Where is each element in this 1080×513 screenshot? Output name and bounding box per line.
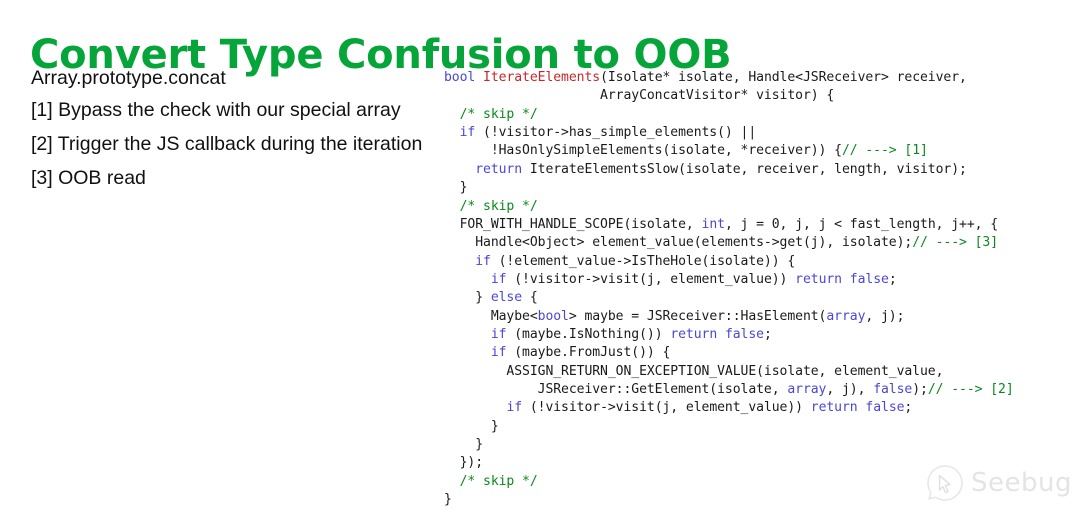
left-content-column: Array.prototype.concat [1] Bypass the ch… <box>31 63 436 195</box>
code-token: (maybe.IsNothing()) <box>506 327 670 342</box>
code-token: (maybe.FromJust()) { <box>506 345 670 360</box>
code-token <box>444 162 475 177</box>
code-line: return IterateElementsSlow(isolate, rece… <box>444 162 967 177</box>
code-line: FOR_WITH_HANDLE_SCOPE(isolate, int, j = … <box>444 217 998 232</box>
code-token: /* skip */ <box>460 474 538 489</box>
code-token: } <box>444 290 491 305</box>
code-token: return <box>670 327 717 342</box>
section-heading: Array.prototype.concat <box>31 63 436 93</box>
code-line: } <box>444 437 483 452</box>
code-token: false <box>725 327 764 342</box>
list-item: [1] Bypass the check with our special ar… <box>31 93 436 127</box>
code-token: ; <box>904 400 912 415</box>
code-line: } else { <box>444 290 538 305</box>
steps-list: [1] Bypass the check with our special ar… <box>31 93 436 195</box>
list-item: [3] OOB read <box>31 161 436 195</box>
code-token: false <box>865 400 904 415</box>
code-line: if (!visitor->visit(j, element_value)) r… <box>444 272 897 287</box>
code-line: ASSIGN_RETURN_ON_EXCEPTION_VALUE(isolate… <box>444 364 943 379</box>
code-token: ASSIGN_RETURN_ON_EXCEPTION_VALUE(isolate… <box>444 364 943 379</box>
code-token: return <box>811 400 858 415</box>
code-token: , j); <box>865 309 904 324</box>
code-token: (!visitor->visit(j, element_value)) <box>522 400 811 415</box>
code-token: bool <box>444 70 475 85</box>
code-token: , j = 0, j, j < fast_length, j++, { <box>725 217 998 232</box>
code-token: /* skip */ <box>460 199 538 214</box>
code-token: /* skip */ <box>460 107 538 122</box>
slide-canvas: Convert Type Confusion to OOB Array.prot… <box>0 0 1080 513</box>
code-line: /* skip */ <box>444 474 538 489</box>
code-token: array <box>787 382 826 397</box>
code-token: IterateElements <box>483 70 600 85</box>
code-line: if (maybe.FromJust()) { <box>444 345 670 360</box>
code-token <box>444 254 475 269</box>
code-line: bool IterateElements(Isolate* isolate, H… <box>444 70 967 85</box>
code-token <box>444 400 506 415</box>
code-token: false <box>850 272 889 287</box>
code-line: if (maybe.IsNothing()) return false; <box>444 327 772 342</box>
code-token: !HasOnlySimpleElements(isolate, *receive… <box>444 143 842 158</box>
code-token: ; <box>889 272 897 287</box>
code-token <box>717 327 725 342</box>
code-block: bool IterateElements(Isolate* isolate, H… <box>444 69 1080 509</box>
code-line: /* skip */ <box>444 199 538 214</box>
code-token: (Isolate* isolate, Handle<JSReceiver> re… <box>600 70 967 85</box>
code-token <box>444 199 460 214</box>
code-token: IterateElementsSlow(isolate, receiver, l… <box>522 162 967 177</box>
code-token: { <box>522 290 538 305</box>
code-token: // ---> [2] <box>928 382 1014 397</box>
code-line: !HasOnlySimpleElements(isolate, *receive… <box>444 143 928 158</box>
code-token: return <box>795 272 842 287</box>
code-token: if <box>491 327 507 342</box>
code-token: (!visitor->visit(j, element_value)) <box>506 272 795 287</box>
code-token <box>475 70 483 85</box>
code-line: if (!element_value->IsTheHole(isolate)) … <box>444 254 795 269</box>
code-token: false <box>873 382 912 397</box>
code-token: // ---> [1] <box>842 143 928 158</box>
code-token: } <box>444 437 483 452</box>
code-token: JSReceiver::GetElement(isolate, <box>444 382 787 397</box>
code-token <box>444 345 491 360</box>
code-token: if <box>460 125 476 140</box>
code-token: bool <box>538 309 569 324</box>
code-line: /* skip */ <box>444 107 538 122</box>
code-line: Handle<Object> element_value(elements->g… <box>444 235 998 250</box>
code-line: if (!visitor->has_simple_elements() || <box>444 125 756 140</box>
code-token <box>444 474 460 489</box>
code-token <box>842 272 850 287</box>
code-token: if <box>491 272 507 287</box>
code-token: array <box>826 309 865 324</box>
code-token: ); <box>912 382 928 397</box>
code-token: else <box>491 290 522 305</box>
code-token: if <box>475 254 491 269</box>
code-line: } <box>444 419 499 434</box>
code-token: > maybe = JSReceiver::HasElement( <box>569 309 827 324</box>
code-token: } <box>444 180 467 195</box>
code-token: (!element_value->IsTheHole(isolate)) { <box>491 254 795 269</box>
code-line: Maybe<bool> maybe = JSReceiver::HasEleme… <box>444 309 904 324</box>
code-line: } <box>444 492 452 507</box>
list-item: [2] Trigger the JS callback during the i… <box>31 127 436 161</box>
code-token: Maybe< <box>444 309 538 324</box>
code-token: }); <box>444 455 483 470</box>
code-token: if <box>506 400 522 415</box>
code-token: // ---> [3] <box>912 235 998 250</box>
code-token: , j), <box>826 382 873 397</box>
code-token <box>444 107 460 122</box>
code-token: if <box>491 345 507 360</box>
code-token <box>444 125 460 140</box>
code-token: ArrayConcatVisitor* visitor) { <box>444 88 834 103</box>
code-token: FOR_WITH_HANDLE_SCOPE(isolate, <box>444 217 702 232</box>
code-token: Handle<Object> element_value(elements->g… <box>444 235 912 250</box>
code-token: ; <box>764 327 772 342</box>
code-line: JSReceiver::GetElement(isolate, array, j… <box>444 382 1014 397</box>
code-line: }); <box>444 455 483 470</box>
code-line: if (!visitor->visit(j, element_value)) r… <box>444 400 912 415</box>
code-token: } <box>444 492 452 507</box>
code-line: } <box>444 180 467 195</box>
code-token: return <box>475 162 522 177</box>
code-token <box>444 272 491 287</box>
code-token <box>444 327 491 342</box>
code-token: } <box>444 419 499 434</box>
code-line: ArrayConcatVisitor* visitor) { <box>444 88 834 103</box>
code-token: int <box>702 217 725 232</box>
code-token: (!visitor->has_simple_elements() || <box>475 125 756 140</box>
